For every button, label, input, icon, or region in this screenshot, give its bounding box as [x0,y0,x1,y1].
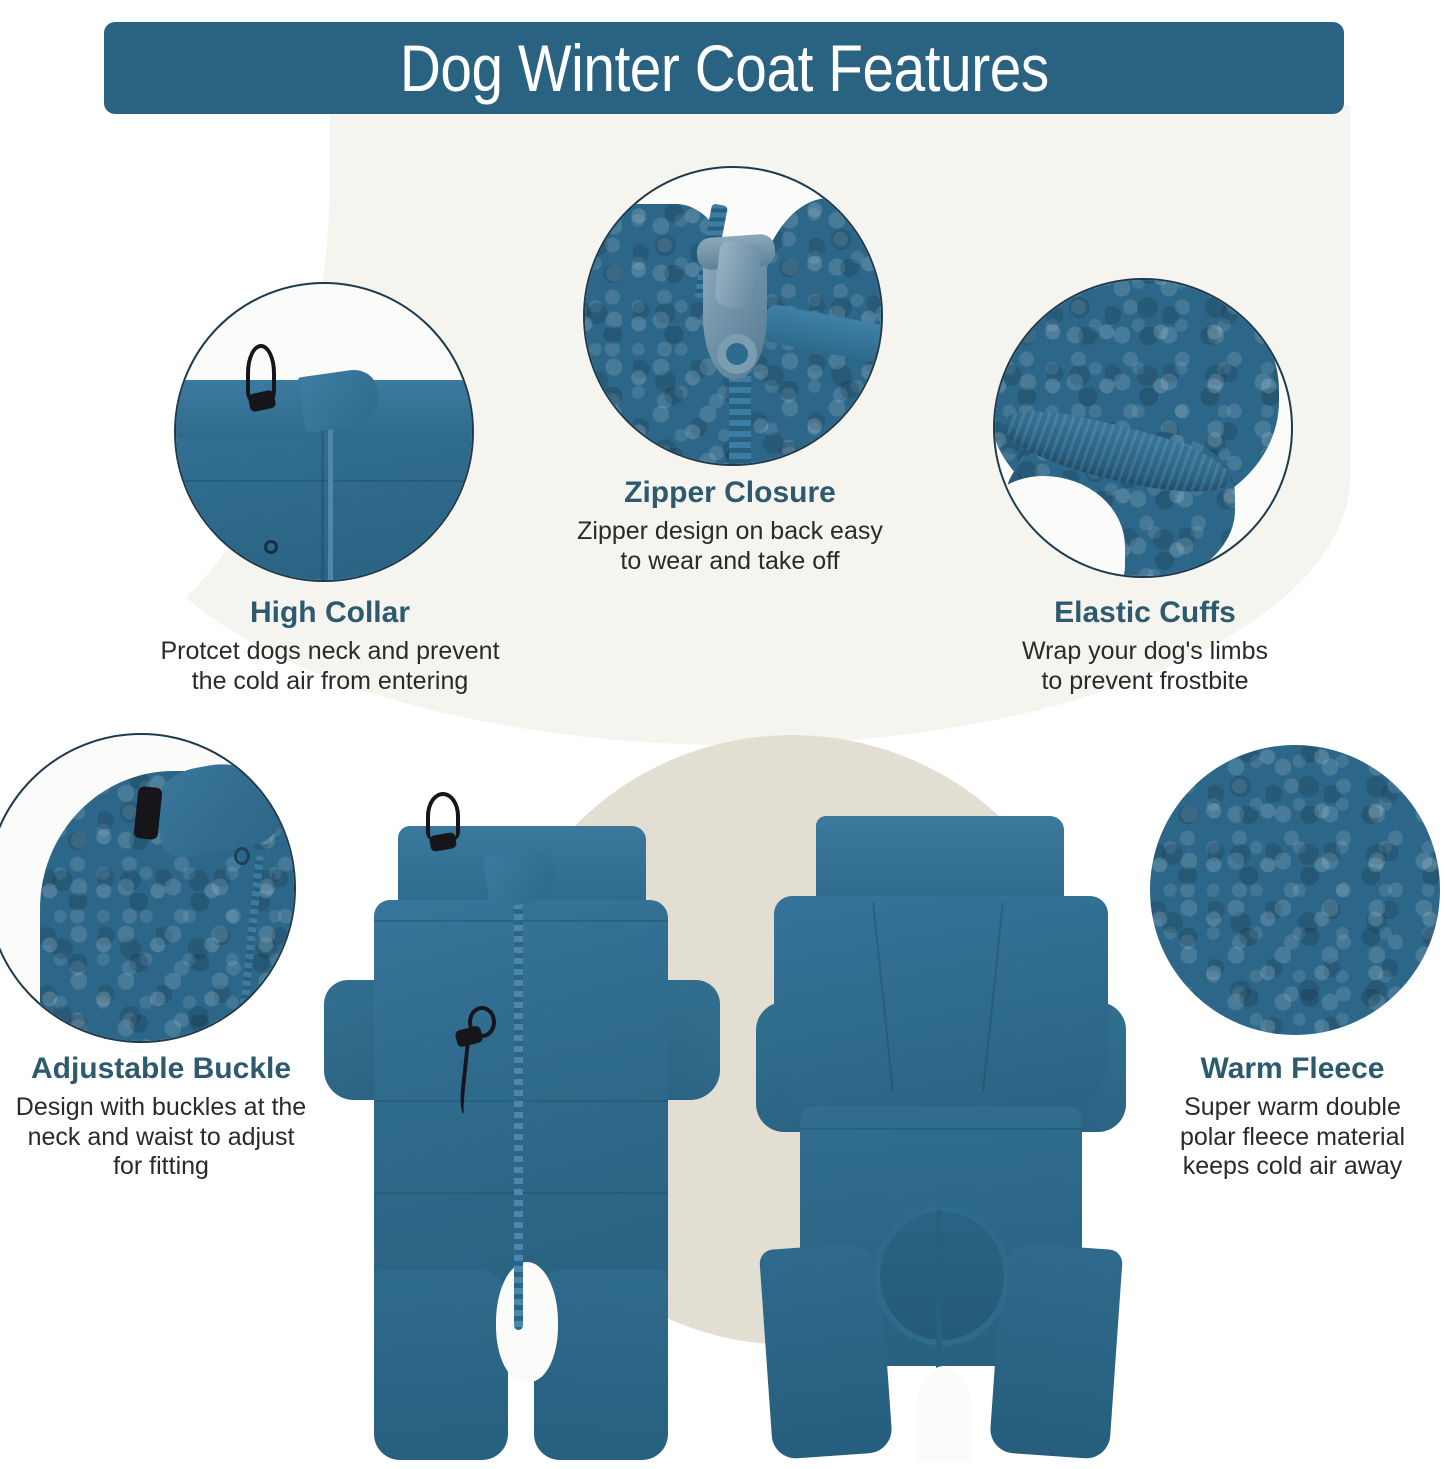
front-leg-gap [496,1262,558,1382]
title-banner: Dog Winter Coat Features [104,22,1344,114]
feature-desc-line: polar fleece material [1140,1123,1445,1153]
feature-desc-warm-fleece: Super warm double polar fleece material … [1140,1093,1445,1182]
feature-desc-line: Super warm double [1140,1093,1445,1123]
back-rear-slit [936,1210,942,1380]
feature-desc-line: keeps cold air away [1140,1152,1445,1182]
feature-desc-line: Wrap your dog's limbs [945,637,1345,667]
eyelet-icon [234,847,250,865]
feature-desc-elastic-cuffs: Wrap your dog's limbs to prevent frostbi… [945,637,1345,696]
feature-desc-line: to wear and take off [500,547,960,577]
eyelet-icon [264,540,278,554]
feature-image-adjustable-buckle [0,733,296,1043]
feature-text-high-collar: High Collar Protcet dogs neck and preven… [105,596,555,696]
infographic-canvas: Dog Winter Coat Features High Collar Pro… [0,0,1445,1469]
feature-text-warm-fleece: Warm Fleece Super warm double polar flee… [1140,1052,1445,1182]
front-zipper [514,870,523,1330]
collar-seam [174,480,474,482]
zipper-slider-ring [717,334,757,374]
back-seam-waist [800,1128,1082,1130]
zipper-pull [714,240,763,310]
feature-image-warm-fleece [1150,745,1440,1035]
back-leg-gap [916,1366,972,1462]
feature-image-zipper-closure [583,166,883,466]
feature-image-elastic-cuffs [993,278,1293,578]
feature-desc-line: Zipper design on back easy [500,517,960,547]
feature-desc-adjustable-buckle: Design with buckles at the neck and wais… [0,1093,322,1182]
feature-desc-high-collar: Protcet dogs neck and prevent the cold a… [105,637,555,696]
feature-image-high-collar [174,282,474,582]
feature-title-high-collar: High Collar [105,596,555,629]
feature-text-elastic-cuffs: Elastic Cuffs Wrap your dog's limbs to p… [945,596,1345,696]
front-leg-left [374,1270,508,1460]
feature-desc-line: to prevent frostbite [945,667,1345,697]
back-collar [816,816,1064,902]
feature-text-adjustable-buckle: Adjustable Buckle Design with buckles at… [0,1052,322,1182]
feature-desc-line: Design with buckles at the [0,1093,322,1123]
feature-title-elastic-cuffs: Elastic Cuffs [945,596,1345,629]
feature-title-adjustable-buckle: Adjustable Buckle [0,1052,322,1085]
feature-desc-line: Protcet dogs neck and prevent [105,637,555,667]
page-title: Dog Winter Coat Features [399,35,1048,101]
feature-title-warm-fleece: Warm Fleece [1140,1052,1445,1085]
product-photo-front [318,800,718,1460]
feature-desc-zipper-closure: Zipper design on back easy to wear and t… [500,517,960,576]
back-rear-opening [874,1206,1010,1346]
feature-text-zipper-closure: Zipper Closure Zipper design on back eas… [500,476,960,576]
feature-desc-line: for fitting [0,1152,322,1182]
feature-desc-line: the cold air from entering [105,667,555,697]
feature-desc-line: neck and waist to adjust [0,1123,322,1153]
feature-title-zipper-closure: Zipper Closure [500,476,960,509]
product-photo-back [760,806,1120,1456]
